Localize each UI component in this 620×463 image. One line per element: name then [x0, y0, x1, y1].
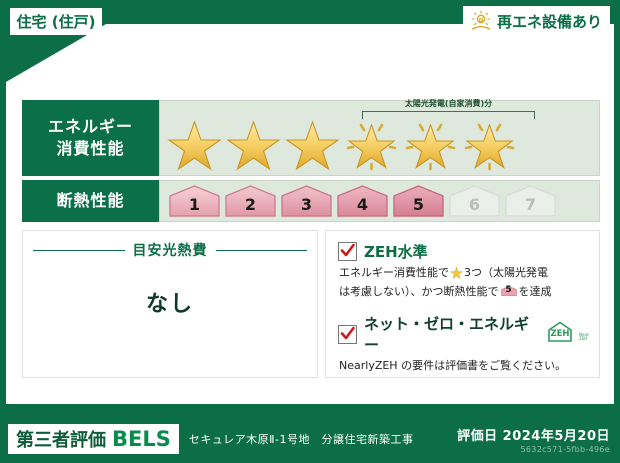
criteria-panel: ZEH水準 エネルギー消費性能で3つ（太陽光発電は考慮しない）、かつ断熱性能で5…: [325, 230, 600, 378]
utility-cost-value: なし: [146, 286, 194, 318]
insulation-grade-value: 4: [336, 195, 389, 214]
insulation-grade-value: 1: [168, 195, 221, 214]
insulation-performance-row: 断熱性能 1: [22, 180, 600, 222]
renewable-energy-tag: D 再エネ設備あり: [463, 6, 610, 36]
svg-text:D: D: [479, 18, 484, 24]
insulation-grade-house-icon: 7: [504, 185, 557, 217]
zeh-desc-part3: を達成: [519, 285, 552, 298]
star-icon: [166, 112, 223, 172]
energy-performance-label-line2: 消費性能: [56, 138, 124, 160]
zeh-level-header: ZEH水準: [338, 241, 589, 262]
inline-grade-value: 5: [501, 282, 517, 298]
insulation-grade-value: 7: [504, 195, 557, 214]
utility-cost-title: 目安光熱費: [125, 240, 216, 260]
insulation-grade-value: 2: [224, 195, 277, 214]
checkbox-checked-icon[interactable]: [338, 242, 357, 261]
star-icon: [225, 112, 282, 172]
evaluation-date-label: 評価日: [457, 429, 498, 444]
bels-label: BELS: [112, 427, 171, 451]
solar-star-icon: [461, 112, 518, 172]
svg-text:ZEH: ZEH: [550, 329, 569, 339]
zeh-level-block: ZEH水準 エネルギー消費性能で3つ（太陽光発電は考慮しない）、かつ断熱性能で5…: [338, 241, 589, 300]
evaluation-date-value: 2024年5月20日: [503, 429, 610, 444]
solar-bracket-label: 太陽光発電(自家消費)分: [362, 98, 535, 109]
insulation-grade-value: 6: [448, 195, 501, 214]
zeh-level-title: ZEH水準: [364, 241, 428, 262]
rule-left: [33, 250, 125, 251]
energy-performance-stars-area: 太陽光発電(自家消費)分: [159, 100, 600, 176]
insulation-grade-house-icon: 3: [280, 185, 333, 217]
evaluation-date-line: 評価日 2024年5月20日: [457, 425, 610, 444]
house-type-tag: 住宅 (住戸): [10, 8, 102, 35]
insulation-grade-house-icon: 5: [392, 185, 445, 217]
solar-star-icon: [402, 112, 459, 172]
insulation-grade-list: 1 2: [168, 185, 557, 217]
insulation-grade-house-icon: 2: [224, 185, 277, 217]
zeh-level-description: エネルギー消費性能で3つ（太陽光発電は考慮しない）、かつ断熱性能で5を達成: [339, 265, 589, 300]
third-party-label: 第三者評価: [16, 426, 106, 452]
footer-bar: 第三者評価 BELS セキュレア木原Ⅱ-1号地 分譲住宅新築工事 評価日 202…: [0, 415, 620, 463]
lower-panels: 目安光熱費 なし ZEH水準: [22, 230, 600, 378]
zeh-desc-part1: エネルギー消費性能で: [339, 266, 449, 279]
energy-performance-row: エネルギー 消費性能 太陽光発電(自家消費)分: [22, 100, 600, 176]
house-type-tag-label: 住宅 (住戸): [17, 11, 96, 32]
net-zero-description: NearlyZEH の要件は評価書をご覧ください。: [339, 358, 589, 374]
utility-cost-panel: 目安光熱費 なし: [22, 230, 318, 378]
label-uuid: 5632c571-5fbb-496e: [457, 445, 610, 454]
insulation-grade-value: 3: [280, 195, 333, 214]
svg-text:ZEH: ZEH: [579, 336, 587, 341]
net-zero-title: ネット・ゼロ・エネルギー: [364, 313, 534, 355]
insulation-grade-house-icon: 1: [168, 185, 221, 217]
insulation-performance-label-text: 断熱性能: [56, 190, 124, 212]
zeh-logo-icon: ZEH Nearly ZEH: [545, 320, 589, 348]
panel-divider: [318, 230, 325, 378]
zeh-desc-part2: は考慮しない）、かつ断熱性能で: [339, 285, 499, 298]
checkbox-checked-icon[interactable]: [338, 325, 357, 344]
evaluation-date-block: 評価日 2024年5月20日 5632c571-5fbb-496e: [457, 425, 610, 454]
net-zero-block: ネット・ゼロ・エネルギー ZEH Nearly ZEH NearlyZEH の要…: [338, 313, 589, 374]
bels-energy-label: 住宅 (住戸) D 再エネ設備あり 建築物省エネ法に基: [0, 0, 620, 463]
insulation-grade-house-icon: 6: [448, 185, 501, 217]
star-icon: [284, 112, 341, 172]
energy-performance-label-line1: エネルギー: [48, 116, 133, 138]
renewable-energy-tag-label: 再エネ設備あり: [497, 11, 602, 32]
building-name: セキュレア木原Ⅱ-1号地 分譲住宅新築工事: [189, 431, 414, 447]
insulation-grade-value: 5: [392, 195, 445, 214]
solar-star-icon: [343, 112, 400, 172]
inline-grade-house-icon: 5: [501, 284, 517, 298]
utility-cost-title-row: 目安光熱費: [23, 240, 317, 260]
rule-right: [216, 250, 308, 251]
insulation-grade-house-icon: 4: [336, 185, 389, 217]
energy-performance-label: エネルギー 消費性能: [22, 100, 159, 176]
energy-star-rating: [166, 112, 518, 172]
sun-icon: D: [469, 9, 493, 33]
insulation-performance-label: 断熱性能: [22, 180, 159, 222]
insulation-grades-area: 1 2: [159, 180, 600, 222]
inline-star-icon: [450, 266, 463, 284]
net-zero-header: ネット・ゼロ・エネルギー ZEH Nearly ZEH: [338, 313, 589, 355]
bels-badge: 第三者評価 BELS: [8, 424, 179, 454]
zeh-desc-stars: 3つ（太陽光発電: [464, 266, 548, 279]
label-content: エネルギー 消費性能 太陽光発電(自家消費)分: [22, 100, 600, 388]
